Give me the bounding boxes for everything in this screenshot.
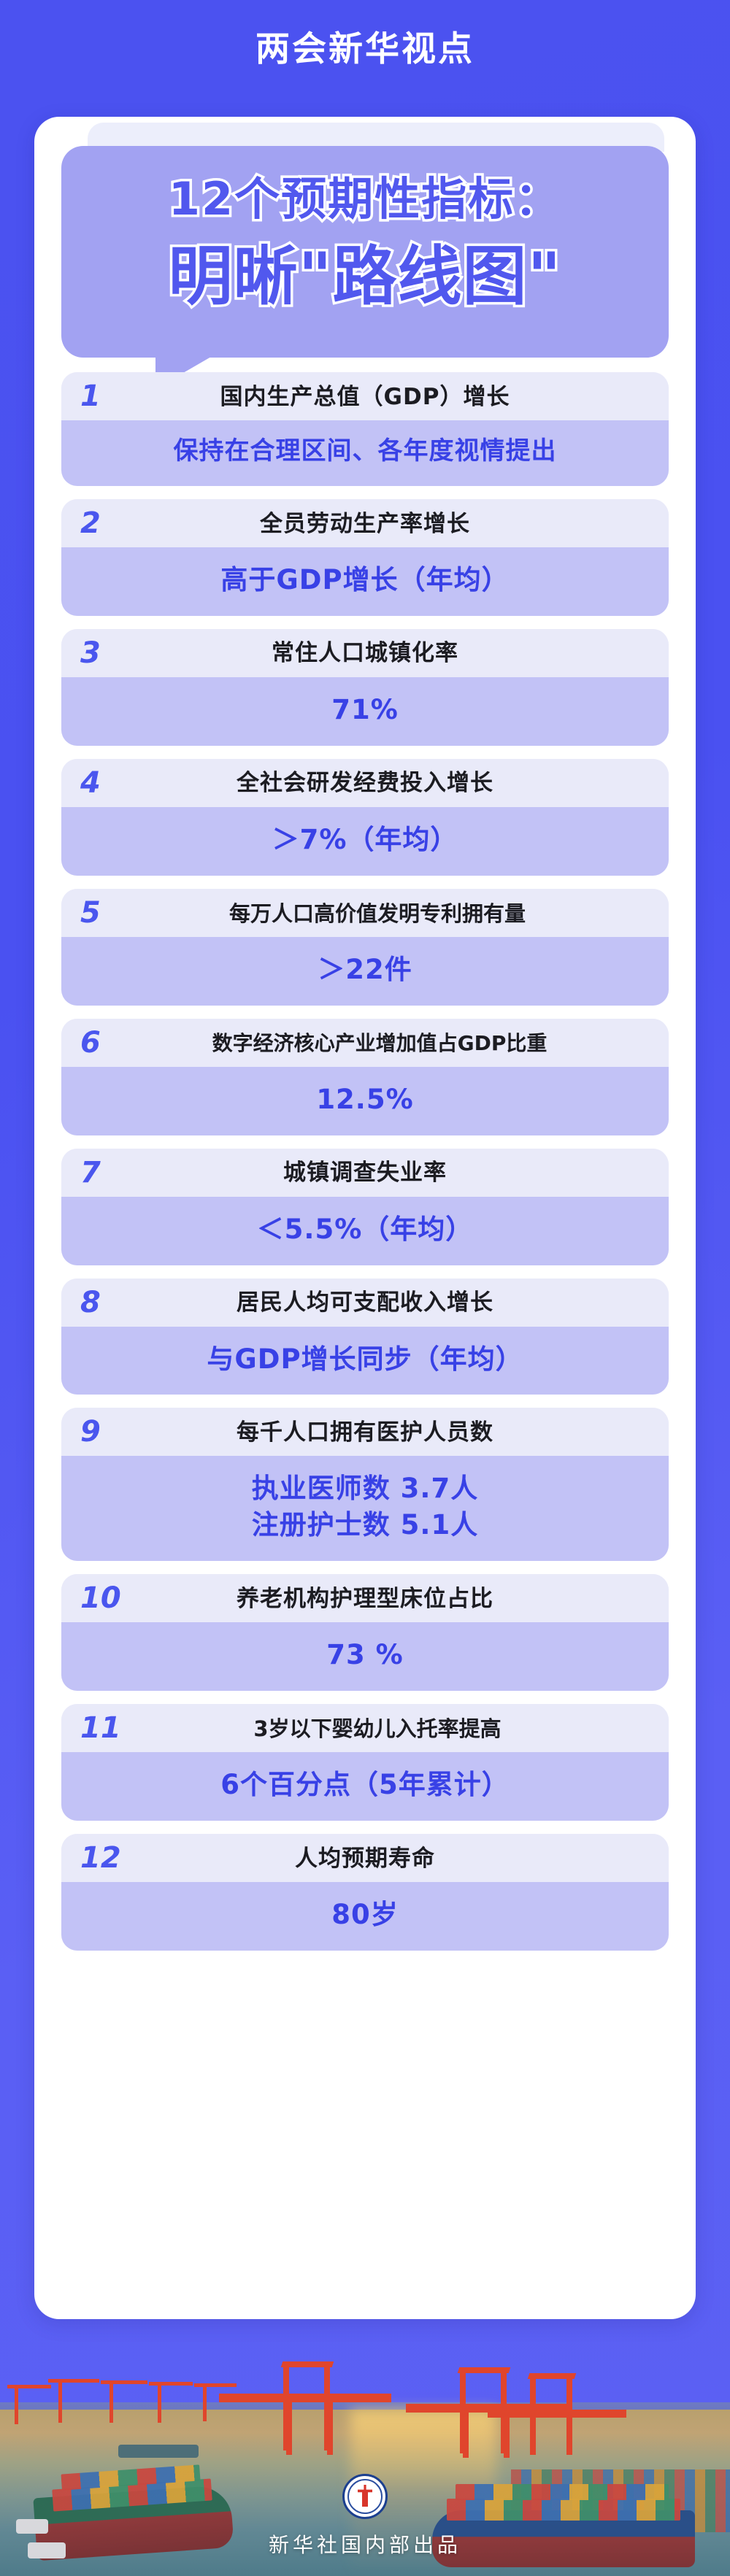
indicator-list: 1 国内生产总值（GDP）增长 保持在合理区间、各年度视情提出 2 全员劳动生产… (61, 372, 669, 1964)
footer-credit: 新华社国内部出品 (0, 2529, 730, 2558)
indicator-value: 73 % (61, 1622, 669, 1691)
indicator-value: 与GDP增长同步（年均） (61, 1327, 669, 1395)
indicator-number: 7 (80, 1156, 131, 1189)
indicator-item-6[interactable]: 6 数字经济核心产业增加值占GDP比重 12.5% (61, 1019, 669, 1135)
indicator-header: 10 养老机构护理型床位占比 (61, 1574, 669, 1622)
indicator-label: 养老机构护理型床位占比 (61, 1575, 669, 1622)
indicator-label: 数字经济核心产业增加值占GDP比重 (61, 1020, 669, 1065)
indicator-value: ＞7%（年均） (61, 807, 669, 876)
indicator-value: 12.5% (61, 1067, 669, 1135)
indicator-number: 2 (80, 506, 131, 540)
indicator-value: 高于GDP增长（年均） (61, 547, 669, 616)
indicator-item-2[interactable]: 2 全员劳动生产率增长 高于GDP增长（年均） (61, 499, 669, 616)
indicator-header: 7 城镇调查失业率 (61, 1149, 669, 1197)
indicator-value: 6个百分点（5年累计） (61, 1752, 669, 1821)
indicator-value: 71% (61, 677, 669, 746)
indicator-header: 5 每万人口高价值发明专利拥有量 (61, 889, 669, 937)
indicator-number: 12 (80, 1841, 131, 1875)
indicator-item-3[interactable]: 3 常住人口城镇化率 71% (61, 629, 669, 746)
indicator-header: 6 数字经济核心产业增加值占GDP比重 (61, 1019, 669, 1067)
indicator-item-11[interactable]: 11 3岁以下婴幼儿入托率提高 6个百分点（5年累计） (61, 1704, 669, 1821)
footer-logo-wrap (0, 2474, 730, 2523)
indicator-item-7[interactable]: 7 城镇调查失业率 ＜5.5%（年均） (61, 1149, 669, 1265)
indicator-number: 3 (80, 636, 131, 670)
indicator-value: ＞22件 (61, 937, 669, 1006)
indicator-label: 全员劳动生产率增长 (61, 500, 669, 547)
indicator-number: 1 (80, 379, 131, 413)
indicator-header: 9 每千人口拥有医护人员数 (61, 1408, 669, 1456)
indicator-value: ＜5.5%（年均） (61, 1197, 669, 1265)
xinhua-logo-icon (342, 2474, 388, 2519)
indicator-label: 居民人均可支配收入增长 (61, 1279, 669, 1326)
masthead-title: 两会新华视点 (0, 20, 730, 71)
indicator-number: 4 (80, 766, 131, 800)
indicator-label: 国内生产总值（GDP）增长 (61, 373, 669, 420)
indicator-item-4[interactable]: 4 全社会研发经费投入增长 ＞7%（年均） (61, 759, 669, 876)
title-line-2: 明晰"路线图" (61, 225, 669, 317)
indicator-label: 人均预期寿命 (61, 1835, 669, 1882)
indicator-number: 11 (80, 1711, 131, 1745)
indicator-item-10[interactable]: 10 养老机构护理型床位占比 73 % (61, 1574, 669, 1691)
indicator-value: 80岁 (61, 1882, 669, 1951)
indicator-value: 执业医师数 3.7人 注册护士数 5.1人 (61, 1456, 669, 1561)
indicator-value-line-1: 执业医师数 3.7人 (76, 1470, 654, 1507)
indicator-number: 8 (80, 1286, 131, 1319)
indicator-item-12[interactable]: 12 人均预期寿命 80岁 (61, 1834, 669, 1951)
indicator-label: 每万人口高价值发明专利拥有量 (61, 890, 669, 936)
indicator-header: 2 全员劳动生产率增长 (61, 499, 669, 547)
indicator-header: 8 居民人均可支配收入增长 (61, 1279, 669, 1327)
indicator-label: 全社会研发经费投入增长 (61, 759, 669, 806)
title-banner: 12个预期性指标： 明晰"路线图" (61, 146, 669, 358)
indicator-header: 1 国内生产总值（GDP）增长 (61, 372, 669, 420)
indicator-number: 9 (80, 1415, 131, 1449)
indicator-label: 每千人口拥有医护人员数 (61, 1408, 669, 1456)
indicator-value-line-2: 注册护士数 5.1人 (76, 1507, 654, 1543)
indicator-label: 3岁以下婴幼儿入托率提高 (61, 1705, 669, 1751)
title-line-1: 12个预期性指标： (61, 162, 669, 228)
indicator-item-8[interactable]: 8 居民人均可支配收入增长 与GDP增长同步（年均） (61, 1279, 669, 1395)
indicator-item-5[interactable]: 5 每万人口高价值发明专利拥有量 ＞22件 (61, 889, 669, 1006)
indicator-item-9[interactable]: 9 每千人口拥有医护人员数 执业医师数 3.7人 注册护士数 5.1人 (61, 1408, 669, 1561)
indicator-header: 4 全社会研发经费投入增长 (61, 759, 669, 807)
indicator-value: 保持在合理区间、各年度视情提出 (61, 420, 669, 486)
logo-ring (347, 2479, 383, 2514)
indicator-header: 3 常住人口城镇化率 (61, 629, 669, 677)
barge (118, 2445, 199, 2458)
indicator-label: 城镇调查失业率 (61, 1149, 669, 1196)
indicator-number: 10 (80, 1581, 131, 1615)
indicator-number: 6 (80, 1026, 131, 1060)
indicator-header: 12 人均预期寿命 (61, 1834, 669, 1882)
indicator-header: 11 3岁以下婴幼儿入托率提高 (61, 1704, 669, 1752)
indicator-label: 常住人口城镇化率 (61, 629, 669, 676)
indicator-item-1[interactable]: 1 国内生产总值（GDP）增长 保持在合理区间、各年度视情提出 (61, 372, 669, 486)
indicator-number: 5 (80, 896, 131, 930)
